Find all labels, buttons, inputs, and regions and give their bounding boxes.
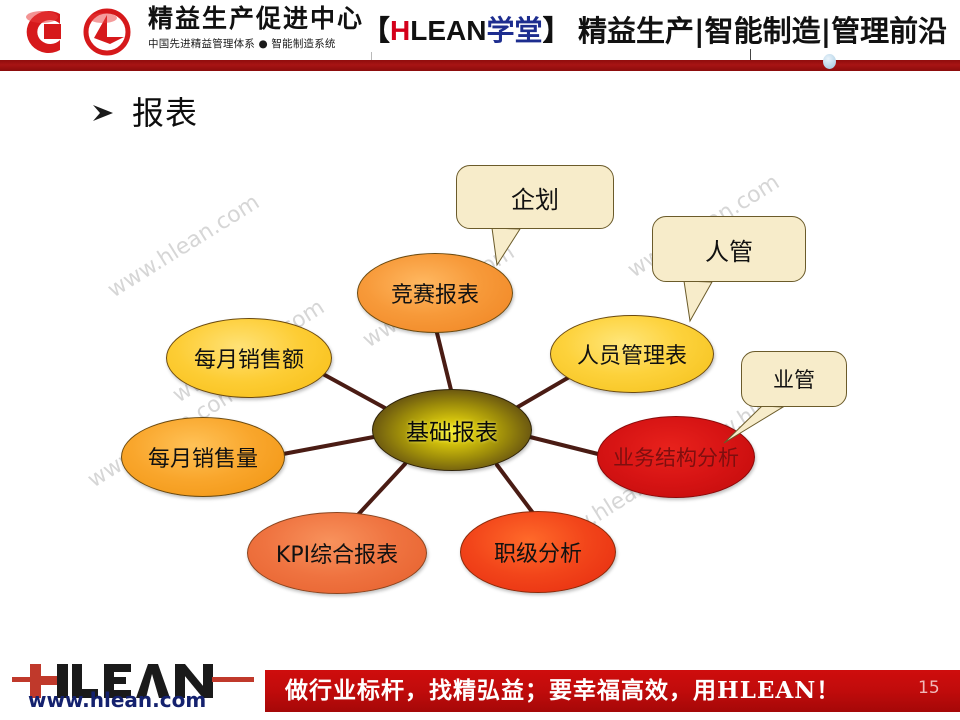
callout-tail-qihua <box>492 228 520 265</box>
callout-label: 人管 <box>705 232 753 267</box>
callout-tail-yeguan <box>724 406 783 443</box>
callout-qihua[interactable]: 企划 <box>456 165 614 229</box>
slide-footer: www.hlean.com 做行业标杆，找精弘益；要幸福高效，用HLEAN！ 1… <box>0 648 960 720</box>
callout-tail-renguan <box>684 281 712 321</box>
footer-url[interactable]: www.hlean.com <box>28 688 206 712</box>
brand-xuetang: 学堂 <box>486 15 542 46</box>
company-logo <box>14 6 164 58</box>
node-hub-jichu-baobiao[interactable]: 基础报表 <box>372 389 532 471</box>
bracket-open: 【 <box>362 15 390 46</box>
company-name-block: 精益生产促进中心 中国先进精益管理体系 ● 智能制造系统 <box>148 4 348 51</box>
footer-slogan: 做行业标杆，找精弘益；要幸福高效，用HLEAN！ <box>285 675 840 707</box>
bracket-close: 】 <box>543 15 571 46</box>
callout-label: 业管 <box>773 364 815 394</box>
header-accent-dot-icon <box>823 54 836 69</box>
callout-renguan[interactable]: 人管 <box>652 216 806 282</box>
page-number: 15 <box>918 678 940 698</box>
slide-header: 精益生产促进中心 中国先进精益管理体系 ● 智能制造系统 【HLEAN学堂】 精… <box>0 0 960 62</box>
page-title: 报表 <box>132 96 198 130</box>
arrow-bullet-icon <box>90 100 116 126</box>
callout-label: 企划 <box>511 180 559 215</box>
callout-yeguan[interactable]: 业管 <box>741 351 847 407</box>
logo-c-icon <box>14 8 76 56</box>
report-hub-diagram: www.hlean.com www.hlean.com www.hlean.co… <box>0 140 960 640</box>
slide-canvas: 精益生产促进中心 中国先进精益管理体系 ● 智能制造系统 【HLEAN学堂】 精… <box>0 0 960 720</box>
hub-label: 基础报表 <box>406 413 498 447</box>
company-name-cn: 精益生产促进中心 <box>148 4 348 34</box>
header-red-rule <box>0 60 960 71</box>
brand-letter-h: H <box>390 15 410 46</box>
brand-lean: LEAN <box>410 15 486 46</box>
hlean-brand: 【HLEAN学堂】 <box>362 12 571 50</box>
company-tagline-cn: 中国先进精益管理体系 ● 智能制造系统 <box>148 36 348 51</box>
page-title-row: 报表 <box>90 96 198 130</box>
header-tagline: 精益生产|智能制造|管理前沿 <box>578 11 947 51</box>
logo-l-icon <box>76 8 138 56</box>
